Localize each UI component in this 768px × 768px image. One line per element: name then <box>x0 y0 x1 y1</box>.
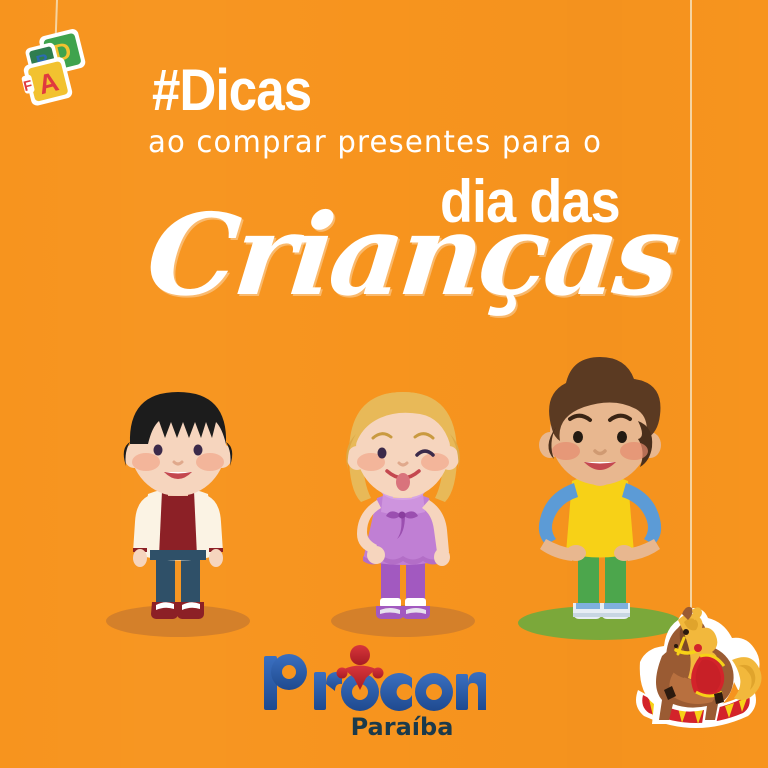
child-illustration-boy-black-hair <box>78 358 278 648</box>
child-illustration-girl-blonde <box>305 358 500 648</box>
toy-blocks-icon: D B A F <box>16 28 96 106</box>
procon-paraiba-logo: Paraíba <box>256 642 486 742</box>
subtitle-line: ao comprar presentes para o <box>148 126 602 160</box>
logo-subtitle-text: Paraíba <box>351 713 454 741</box>
script-title-line: Crianças <box>142 196 681 316</box>
poster-canvas: D B A F #Dicas ao comprar presentes para… <box>0 0 768 768</box>
hashtag-title: #Dicas <box>152 62 311 120</box>
rocking-horse-icon <box>622 598 768 748</box>
